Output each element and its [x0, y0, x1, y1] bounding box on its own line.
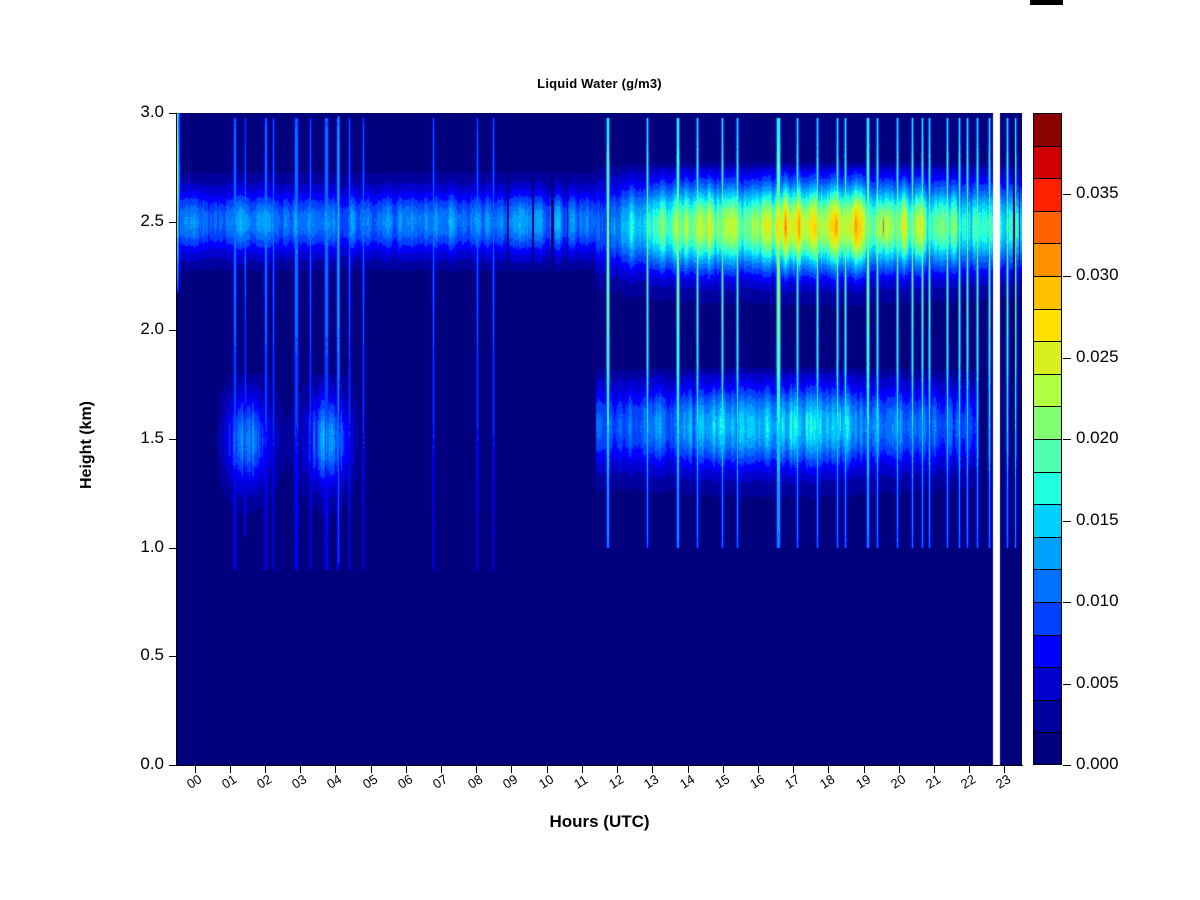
colorbar-tick [1063, 521, 1071, 522]
y-axis-tick-label: 2.5 [140, 211, 164, 231]
x-axis-tick-label: 13 [641, 771, 661, 791]
y-axis-tick-label: 3.0 [140, 102, 164, 122]
x-axis-tick-label: 20 [888, 771, 908, 791]
x-axis-tick-label: 17 [782, 771, 802, 791]
colorbar-tick-label: 0.020 [1076, 428, 1119, 448]
x-axis-tick-label: 21 [923, 771, 943, 791]
x-axis-tick-label: 12 [606, 771, 626, 791]
colorbar-block [1034, 244, 1061, 277]
y-axis-line [176, 113, 177, 766]
colorbar-block [1034, 440, 1061, 473]
colorbar-tick [1063, 765, 1071, 766]
x-axis-tick-label: 15 [712, 771, 732, 791]
colorbar-block [1034, 407, 1061, 440]
y-axis-tick [169, 656, 176, 657]
colorbar [1033, 113, 1062, 765]
x-axis-tick-label: 16 [747, 771, 767, 791]
y-axis-tick-label: 1.0 [140, 537, 164, 557]
heatmap-plot-area [177, 113, 1022, 765]
x-axis-tick-label: 01 [219, 771, 239, 791]
x-axis-tick-label: 06 [395, 771, 415, 791]
x-axis-tick-label: 07 [430, 771, 450, 791]
colorbar-tick [1063, 358, 1071, 359]
colorbar-block [1034, 147, 1061, 180]
colorbar-block [1034, 603, 1061, 636]
x-axis-tick-label: 05 [360, 771, 380, 791]
colorbar-tick [1063, 439, 1071, 440]
colorbar-block [1034, 701, 1061, 734]
colorbar-block [1034, 570, 1061, 603]
colorbar-block [1034, 668, 1061, 701]
heatmap-canvas [177, 113, 1022, 765]
page-title: Liquid Water (g/m3) [177, 76, 1022, 91]
colorbar-block [1034, 277, 1061, 310]
x-axis-tick-label: 10 [536, 771, 556, 791]
colorbar-block [1034, 179, 1061, 212]
x-axis-tick-label: 00 [184, 771, 204, 791]
colorbar-block [1034, 473, 1061, 506]
x-axis-tick-label: 11 [571, 772, 590, 792]
x-axis-tick-label: 08 [465, 771, 485, 791]
x-axis-tick-label: 04 [324, 771, 344, 791]
colorbar-tick-label: 0.010 [1076, 591, 1119, 611]
y-axis-tick-label: 0.0 [140, 754, 164, 774]
y-axis-tick-label: 0.5 [140, 645, 164, 665]
colorbar-block [1034, 538, 1061, 571]
x-axis-tick-label: 18 [817, 771, 837, 791]
y-axis-tick [169, 113, 176, 114]
x-axis-line [176, 765, 1023, 766]
y-axis-tick [169, 439, 176, 440]
figure-canvas: Liquid Water (g/m3) 0.00.51.01.52.02.53.… [0, 0, 1200, 900]
colorbar-tick [1063, 194, 1071, 195]
x-axis-tick-label: 03 [289, 771, 309, 791]
y-axis-tick [169, 222, 176, 223]
x-axis-tick-label: 22 [958, 771, 978, 791]
top-artifact-bar [1030, 0, 1063, 5]
colorbar-tick [1063, 276, 1071, 277]
x-axis-tick-label: 02 [254, 771, 274, 791]
colorbar-block [1034, 310, 1061, 343]
y-axis-tick [169, 548, 176, 549]
x-axis-title: Hours (UTC) [177, 812, 1022, 832]
colorbar-block [1034, 636, 1061, 669]
colorbar-tick [1063, 602, 1071, 603]
colorbar-tick-label: 0.030 [1076, 265, 1119, 285]
y-axis-title: Height (km) [78, 355, 96, 535]
y-axis-tick [169, 765, 176, 766]
colorbar-block [1034, 212, 1061, 245]
colorbar-tick [1063, 684, 1071, 685]
x-axis-tick-label: 23 [993, 771, 1013, 791]
y-axis-tick-label: 2.0 [140, 319, 164, 339]
colorbar-tick-label: 0.005 [1076, 673, 1119, 693]
x-axis-tick-label: 19 [853, 771, 873, 791]
colorbar-block [1034, 733, 1061, 765]
colorbar-tick-label: 0.035 [1076, 183, 1119, 203]
y-axis-tick-label: 1.5 [140, 428, 164, 448]
colorbar-block [1034, 505, 1061, 538]
x-axis-tick-label: 14 [677, 771, 697, 791]
colorbar-block [1034, 375, 1061, 408]
x-axis-tick-label: 09 [500, 771, 520, 791]
y-axis-tick [169, 330, 176, 331]
colorbar-tick-label: 0.000 [1076, 754, 1119, 774]
colorbar-block [1034, 342, 1061, 375]
colorbar-tick-label: 0.015 [1076, 510, 1119, 530]
colorbar-block [1034, 114, 1061, 147]
colorbar-tick-label: 0.025 [1076, 347, 1119, 367]
